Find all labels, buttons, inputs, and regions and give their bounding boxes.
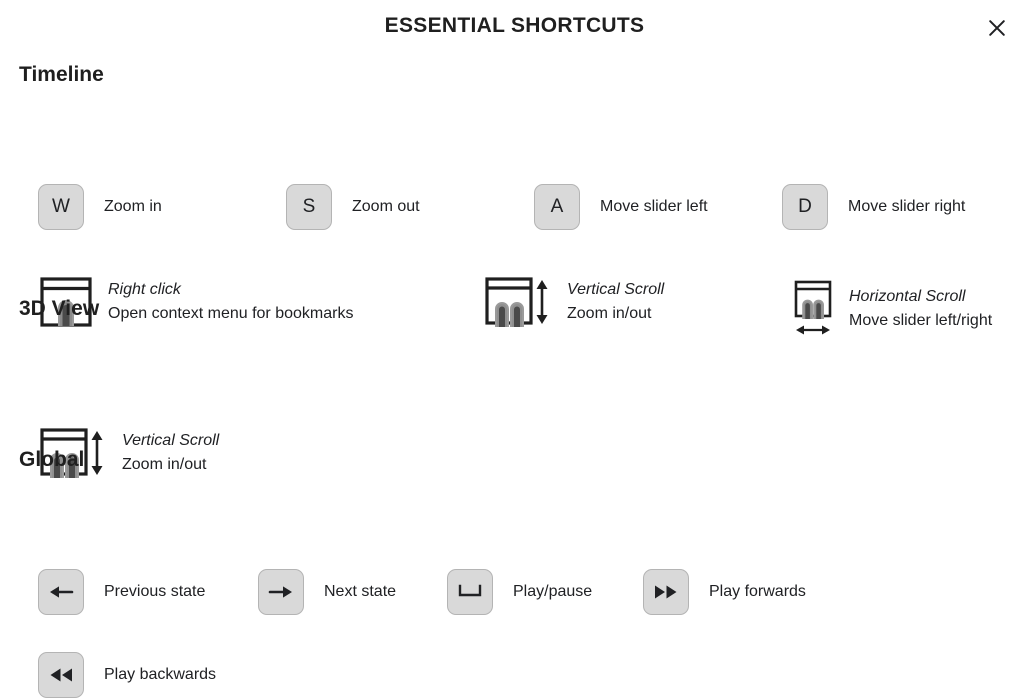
section-title-timeline: Timeline <box>19 64 104 85</box>
close-button[interactable] <box>981 12 1013 44</box>
key-a[interactable]: A <box>534 184 580 230</box>
arrow-left-icon <box>48 582 74 602</box>
rewind-icon <box>47 666 75 684</box>
arrow-right-icon <box>268 582 294 602</box>
key-w[interactable]: W <box>38 184 84 230</box>
shortcut-move-slider-right-label: Move slider right <box>848 198 965 216</box>
shortcut-vertical-scroll-timeline-desc: Zoom in/out <box>567 302 664 326</box>
shortcut-zoom-out-label: Zoom out <box>352 198 420 216</box>
key-s-label: S <box>303 196 316 218</box>
shortcut-previous-state[interactable]: Previous state <box>38 569 205 615</box>
shortcut-vertical-scroll-3d-text: Vertical Scroll Zoom in/out <box>122 429 219 476</box>
page-title: ESSENTIAL SHORTCUTS <box>0 14 1029 38</box>
key-w-label: W <box>52 196 70 218</box>
key-arrow-right[interactable] <box>258 569 304 615</box>
key-s[interactable]: S <box>286 184 332 230</box>
shortcut-horizontal-scroll-text: Horizontal Scroll Move slider left/right <box>849 285 992 332</box>
key-d-label: D <box>798 196 812 218</box>
shortcut-play-pause[interactable]: Play/pause <box>447 569 592 615</box>
section-title-global: Global <box>19 449 84 470</box>
shortcut-right-click-desc: Open context menu for bookmarks <box>108 302 353 326</box>
shortcut-move-slider-left-label: Move slider left <box>600 198 708 216</box>
shortcut-zoom-out[interactable]: S Zoom out <box>286 184 420 230</box>
shortcut-horizontal-scroll-action: Horizontal Scroll <box>849 285 992 309</box>
mouse-horizontal-scroll-icon <box>791 278 835 340</box>
mouse-vertical-scroll-icon <box>483 274 553 330</box>
shortcut-move-slider-right[interactable]: D Move slider right <box>782 184 965 230</box>
key-d[interactable]: D <box>782 184 828 230</box>
shortcut-play-forwards-label: Play forwards <box>709 583 806 601</box>
shortcut-zoom-in-label: Zoom in <box>104 198 162 216</box>
shortcut-previous-state-label: Previous state <box>104 583 205 601</box>
shortcut-right-click-text: Right click Open context menu for bookma… <box>108 278 353 325</box>
shortcut-vertical-scroll-timeline-text: Vertical Scroll Zoom in/out <box>567 278 664 325</box>
dialog-header: ESSENTIAL SHORTCUTS <box>0 0 1029 56</box>
shortcut-zoom-in[interactable]: W Zoom in <box>38 184 162 230</box>
shortcut-play-pause-label: Play/pause <box>513 583 592 601</box>
fast-forward-icon <box>652 583 680 601</box>
shortcut-vertical-scroll-timeline[interactable]: Vertical Scroll Zoom in/out <box>483 274 664 330</box>
key-fast-forward[interactable] <box>643 569 689 615</box>
shortcut-play-forwards[interactable]: Play forwards <box>643 569 806 615</box>
shortcut-vertical-scroll-3d-desc: Zoom in/out <box>122 453 219 477</box>
shortcut-vertical-scroll-3d-action: Vertical Scroll <box>122 429 219 453</box>
key-a-label: A <box>551 196 564 218</box>
shortcut-play-backwards[interactable]: Play backwards <box>38 652 216 698</box>
shortcut-right-click-action: Right click <box>108 278 353 302</box>
shortcut-play-backwards-label: Play backwards <box>104 666 216 684</box>
shortcut-horizontal-scroll[interactable]: Horizontal Scroll Move slider left/right <box>791 278 992 340</box>
shortcut-next-state-label: Next state <box>324 583 396 601</box>
key-spacebar[interactable] <box>447 569 493 615</box>
spacebar-icon <box>457 584 483 600</box>
section-title-3d-view: 3D View <box>19 298 99 319</box>
shortcut-move-slider-left[interactable]: A Move slider left <box>534 184 708 230</box>
shortcut-horizontal-scroll-desc: Move slider left/right <box>849 309 992 333</box>
key-arrow-left[interactable] <box>38 569 84 615</box>
shortcut-vertical-scroll-timeline-action: Vertical Scroll <box>567 278 664 302</box>
shortcut-next-state[interactable]: Next state <box>258 569 396 615</box>
key-rewind[interactable] <box>38 652 84 698</box>
close-icon <box>987 18 1007 38</box>
